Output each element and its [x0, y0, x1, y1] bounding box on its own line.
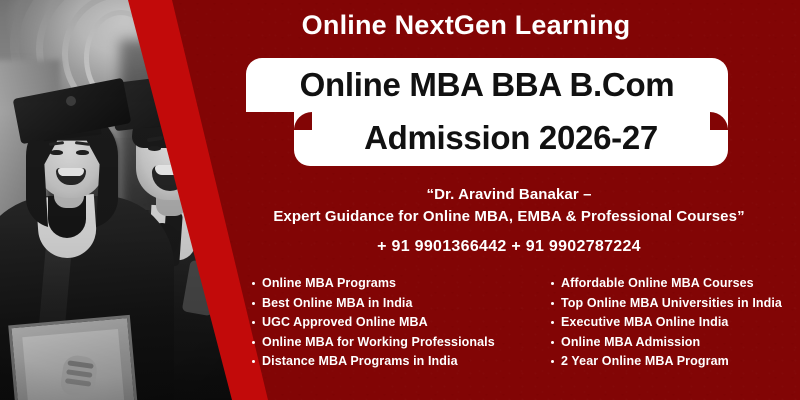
list-item: Online MBA for Working Professionals — [252, 333, 519, 353]
contact-phone-numbers[interactable]: + 91 9901366442 + 91 9902787224 — [226, 238, 792, 256]
brand-title: Online NextGen Learning — [236, 8, 696, 42]
list-item: 2 Year Online MBA Program — [529, 352, 796, 372]
bullet-dot-icon — [252, 302, 255, 305]
list-item: Executive MBA Online India — [529, 313, 796, 333]
headline-block: Online MBA BBA B.Com Admission 2026-27 — [246, 58, 736, 166]
list-item-label: 2 Year Online MBA Program — [561, 352, 729, 372]
list-item-label: Online MBA for Working Professionals — [262, 333, 495, 353]
list-item: Affordable Online MBA Courses — [529, 274, 796, 294]
list-item: Online MBA Admission — [529, 333, 796, 353]
bullet-column-left: Online MBA Programs Best Online MBA in I… — [252, 274, 519, 372]
list-item-label: Online MBA Admission — [561, 333, 700, 353]
list-item-label: Top Online MBA Universities in India — [561, 294, 782, 314]
banner-content: Online NextGen Learning Online MBA BBA B… — [0, 0, 800, 400]
headline-line-2: Admission 2026-27 — [294, 112, 728, 166]
bullet-dot-icon — [551, 341, 554, 344]
keyword-columns: Online MBA Programs Best Online MBA in I… — [252, 274, 796, 372]
expert-quote: “Dr. Aravind Banakar – Expert Guidance f… — [226, 184, 792, 228]
list-item-label: Affordable Online MBA Courses — [561, 274, 754, 294]
list-item-label: Executive MBA Online India — [561, 313, 728, 333]
bullet-dot-icon — [252, 321, 255, 324]
bullet-dot-icon — [551, 360, 554, 363]
list-item: Online MBA Programs — [252, 274, 519, 294]
bullet-dot-icon — [551, 282, 554, 285]
list-item: Distance MBA Programs in India — [252, 352, 519, 372]
bullet-dot-icon — [551, 321, 554, 324]
list-item: Best Online MBA in India — [252, 294, 519, 314]
list-item-label: Online MBA Programs — [262, 274, 396, 294]
list-item-label: Best Online MBA in India — [262, 294, 413, 314]
list-item-label: UGC Approved Online MBA — [262, 313, 428, 333]
bullet-dot-icon — [252, 341, 255, 344]
quote-line-2: Expert Guidance for Online MBA, EMBA & P… — [226, 206, 792, 228]
headline-line-1: Online MBA BBA B.Com — [246, 58, 728, 112]
list-item: Top Online MBA Universities in India — [529, 294, 796, 314]
bullet-column-right: Affordable Online MBA Courses Top Online… — [529, 274, 796, 372]
quote-line-1: “Dr. Aravind Banakar – — [226, 184, 792, 206]
bullet-dot-icon — [252, 282, 255, 285]
bullet-dot-icon — [252, 360, 255, 363]
promotional-banner: Online NextGen Learning Online MBA BBA B… — [0, 0, 800, 400]
list-item-label: Distance MBA Programs in India — [262, 352, 458, 372]
bullet-dot-icon — [551, 302, 554, 305]
list-item: UGC Approved Online MBA — [252, 313, 519, 333]
